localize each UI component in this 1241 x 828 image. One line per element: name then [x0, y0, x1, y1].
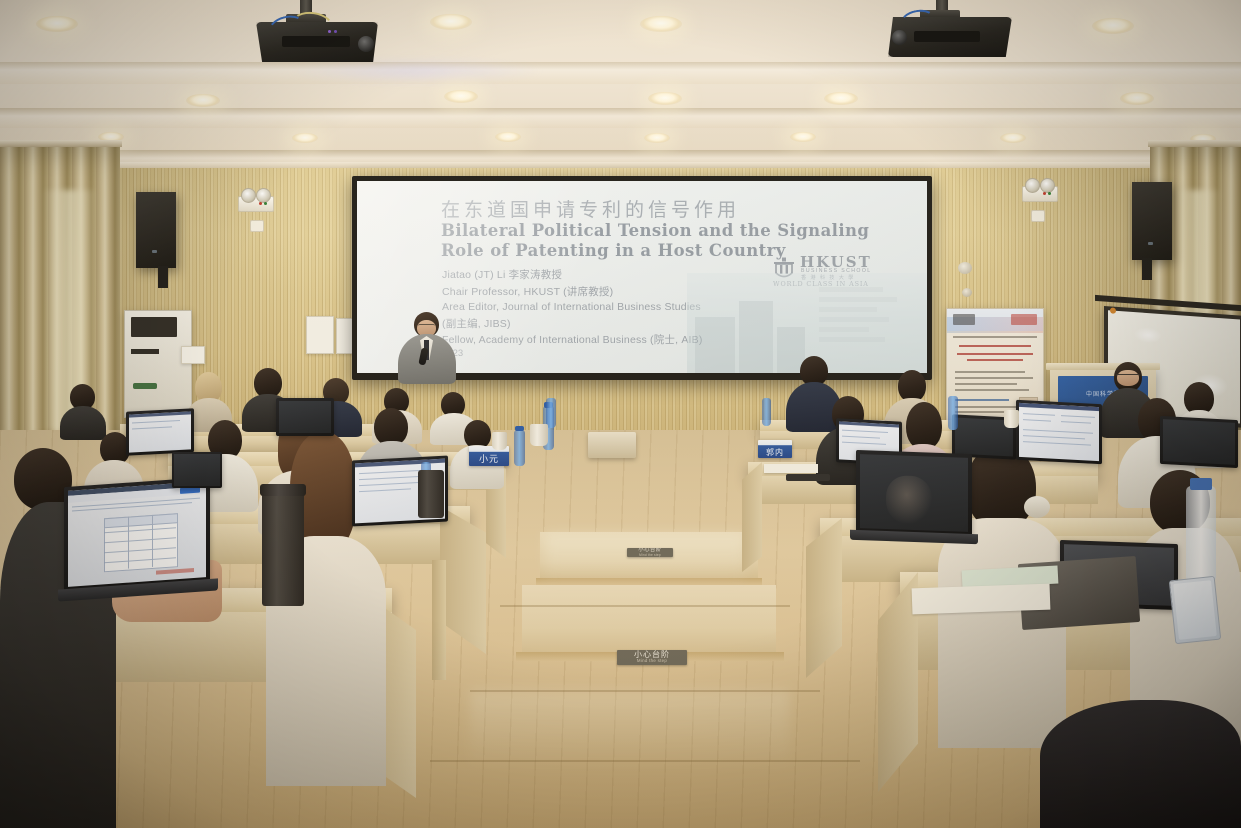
left-curtain-rod [0, 140, 122, 147]
paper-cup[interactable] [1004, 410, 1019, 428]
left-speaker-badge [152, 250, 157, 253]
poster-event-logo [1011, 314, 1037, 325]
paper-cup[interactable] [492, 432, 507, 450]
ceiling-downlight [292, 133, 318, 143]
left-projector-lens [358, 36, 374, 52]
emergency-indicator [1048, 192, 1051, 195]
left-emergency-light [238, 196, 274, 212]
nameplate-text: 小元 [479, 456, 499, 466]
ceiling-downlight [495, 132, 521, 142]
laptop[interactable] [276, 398, 334, 436]
ceiling-band-1 [0, 62, 1241, 84]
water-bottle[interactable] [514, 430, 525, 466]
emergency-indicator [259, 202, 262, 205]
water-bottle[interactable] [762, 398, 771, 426]
right-projector-lens [892, 30, 907, 45]
laptop[interactable] [856, 450, 972, 536]
presenter [398, 312, 456, 384]
left-speaker-bracket [158, 266, 168, 288]
emergency-indicator [264, 202, 267, 205]
laptop-screen[interactable] [68, 481, 206, 587]
glasses-icon [1116, 374, 1140, 379]
right-emergency-light [1022, 186, 1058, 202]
left-speaker [136, 192, 176, 268]
lecture-hall-photo: 在东道国申请专利的信号作用 Bilateral Political Tensio… [0, 0, 1241, 828]
poster-section-label [955, 399, 1009, 401]
laptop[interactable] [64, 477, 210, 591]
right-wall-outlet[interactable] [1031, 210, 1045, 222]
whiteboard-magnet[interactable] [1110, 307, 1116, 313]
laptop-screen[interactable] [279, 401, 331, 433]
left-wall-cabinet [124, 310, 192, 418]
desk-leg [830, 576, 846, 706]
floor-reflection [470, 690, 790, 770]
nameplate: 郭内 [758, 440, 792, 458]
phone-screen[interactable] [1173, 580, 1217, 640]
laptop[interactable] [172, 452, 222, 488]
hair-scrunchie [1024, 496, 1050, 518]
poster-title-line-en-2 [967, 359, 1023, 361]
poster-title-line-cn [959, 345, 1031, 347]
paper-stack[interactable] [764, 464, 818, 473]
water-bottle[interactable] [948, 396, 958, 430]
ceiling-band-2 [0, 108, 1241, 128]
floor-step-sign-en: Mind the step [639, 554, 661, 557]
emergency-lamp [1040, 178, 1055, 193]
cabinet-slot [131, 349, 159, 354]
tumbler-lid[interactable] [260, 484, 306, 496]
cabinet-panel [131, 317, 177, 337]
laptop[interactable] [1016, 400, 1102, 465]
laptop-screen[interactable] [1163, 419, 1235, 465]
floor-reflection [545, 534, 745, 586]
audience-member-foreground [1040, 700, 1241, 828]
poster-heading-line [953, 336, 1037, 338]
laptop[interactable] [1160, 416, 1238, 468]
laptop-screen[interactable] [174, 454, 220, 486]
emergency-lamp [1025, 178, 1040, 193]
aisle-step-mid [522, 585, 776, 657]
nameplate-text: 郭内 [766, 449, 784, 458]
wall-sensor [962, 288, 972, 297]
laptop[interactable] [126, 408, 194, 456]
aisle-side-table [588, 432, 636, 458]
ceiling-downlight [444, 90, 478, 103]
ceiling-downlight [186, 94, 220, 107]
ceiling [0, 0, 1241, 175]
poster-univ-logo [953, 314, 975, 325]
emergency-lamp [256, 188, 271, 203]
bottle-cap[interactable] [1190, 478, 1212, 490]
left-wall-outlet[interactable] [250, 220, 264, 232]
ceiling-downlight [1092, 18, 1134, 34]
wall-label-sheet [181, 346, 205, 364]
cabinet-label [133, 383, 157, 389]
laptop-screen[interactable] [129, 411, 191, 452]
smartphone[interactable] [1169, 576, 1221, 644]
laptop-screen[interactable] [860, 454, 968, 532]
ceiling-downlight [644, 133, 670, 143]
travel-tumbler[interactable] [418, 470, 444, 518]
water-bottle[interactable] [1186, 486, 1216, 582]
ceiling-downlight [640, 16, 682, 32]
emergency-lamp [241, 188, 256, 203]
floor-step-sign: 小心台阶 Mind the step [627, 548, 673, 557]
presenter-glasses-icon [418, 324, 435, 329]
right-curtain-rod [1148, 140, 1241, 147]
audience-member [60, 384, 106, 438]
ceiling-downlight [36, 16, 78, 32]
desk-side-panel [742, 462, 762, 572]
right-speaker [1132, 182, 1172, 260]
laptop-screen[interactable] [1019, 403, 1099, 461]
ceiling-downlight [430, 14, 472, 30]
floor-step-sign-en: Mind the step [637, 659, 667, 663]
emergency-indicator [1043, 192, 1046, 195]
right-speaker-badge [1148, 242, 1153, 245]
bottle-cap[interactable] [515, 426, 524, 431]
floor-step-sign: 小心台阶 Mind the step [617, 650, 687, 665]
ceiling-downlight [1120, 92, 1154, 105]
right-speaker-bracket [1142, 258, 1152, 280]
paper-stack[interactable] [912, 584, 1051, 615]
wall-notice-sheet [306, 316, 334, 354]
ceiling-downlight [790, 132, 816, 142]
desk-leg [432, 560, 446, 680]
ceiling-downlight [648, 92, 682, 105]
travel-tumbler[interactable] [262, 488, 304, 606]
mouse[interactable] [786, 474, 830, 481]
paper-cup[interactable] [530, 424, 548, 446]
desk-leg [892, 660, 910, 828]
water-bottle[interactable] [546, 398, 556, 428]
left-projector-led [334, 30, 337, 33]
ceiling-camera [958, 262, 972, 274]
ceiling-downlight [824, 92, 858, 105]
poster-title-line-en-1 [957, 353, 1033, 355]
ceiling-downlight [1000, 133, 1026, 143]
